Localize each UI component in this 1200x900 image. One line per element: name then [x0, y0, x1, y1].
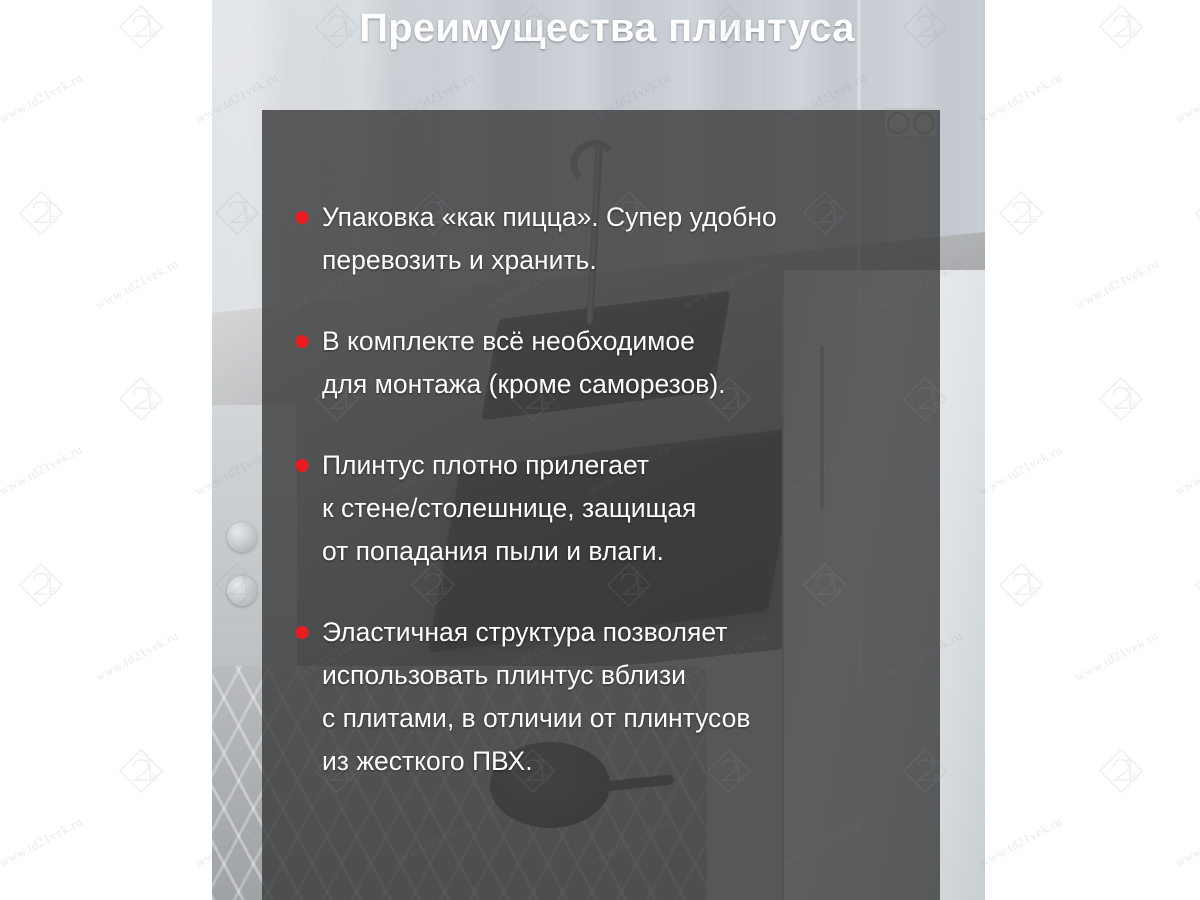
- page-title: Преимущества плинтуса: [262, 6, 952, 51]
- watermark-logo-icon: [18, 190, 64, 236]
- bullet-dot-icon: [296, 626, 309, 639]
- list-item-line: В комплекте всё необходимое: [322, 320, 936, 363]
- list-item-line: от попадания пыли и влаги.: [322, 530, 936, 573]
- watermark-text: www.td21vek.ru: [1172, 70, 1200, 127]
- list-item: Упаковка «как пицца». Супер удобно перев…: [296, 196, 936, 282]
- list-item-line: использовать плинтус вблизи: [322, 654, 936, 697]
- list-item-line: Эластичная структура позволяет: [322, 611, 936, 654]
- watermark-logo-icon: [1098, 748, 1144, 794]
- list-item: Плинтус плотно прилегает к стене/столешн…: [296, 444, 936, 573]
- watermark-text: www.td21vek.ru: [0, 70, 85, 127]
- list-item: Эластичная структура позволяет использов…: [296, 611, 936, 783]
- slide-canvas: Преимущества плинтуса Упаковка «как пицц…: [0, 0, 1200, 900]
- watermark-logo-icon: [1194, 190, 1200, 236]
- list-item-line: для монтажа (кроме саморезов).: [322, 363, 936, 406]
- watermark-text: www.td21vek.ru: [0, 814, 85, 871]
- watermark-logo-icon: [998, 190, 1044, 236]
- watermark-logo-icon: [118, 4, 164, 50]
- watermark-logo-icon: [1194, 562, 1200, 608]
- list-item-line: Плинтус плотно прилегает: [322, 444, 936, 487]
- watermark-logo-icon: [998, 562, 1044, 608]
- watermark-logo-icon: [118, 748, 164, 794]
- watermark-text: www.td21vek.ru: [976, 814, 1065, 871]
- bullet-dot-icon: [296, 211, 309, 224]
- watermark-logo-icon: [1098, 4, 1144, 50]
- list-item-line: перевозить и хранить.: [322, 239, 936, 282]
- watermark-text: www.td21vek.ru: [1072, 256, 1161, 313]
- watermark-text: www.td21vek.ru: [92, 256, 181, 313]
- list-item-line: Упаковка «как пицца». Супер удобно: [322, 196, 936, 239]
- bullet-dot-icon: [296, 459, 309, 472]
- watermark-text: www.td21vek.ru: [0, 442, 85, 499]
- bullet-dot-icon: [296, 335, 309, 348]
- watermark-logo-icon: [118, 376, 164, 422]
- benefits-list: Упаковка «как пицца». Супер удобно перев…: [296, 196, 936, 821]
- watermark-text: www.td21vek.ru: [976, 442, 1065, 499]
- watermark-logo-icon: [18, 562, 64, 608]
- watermark-text: www.td21vek.ru: [1172, 814, 1200, 871]
- watermark-logo-icon: [1098, 376, 1144, 422]
- list-item-line: к стене/столешнице, защищая: [322, 487, 936, 530]
- list-item-line: из жесткого ПВХ.: [322, 740, 936, 783]
- list-item-line: с плитами, в отличии от плинтусов: [322, 697, 936, 740]
- watermark-text: www.td21vek.ru: [1172, 442, 1200, 499]
- list-item: В комплекте всё необходимое для монтажа …: [296, 320, 936, 406]
- watermark-text: www.td21vek.ru: [1072, 628, 1161, 685]
- watermark-text: www.td21vek.ru: [92, 628, 181, 685]
- watermark-text: www.td21vek.ru: [976, 70, 1065, 127]
